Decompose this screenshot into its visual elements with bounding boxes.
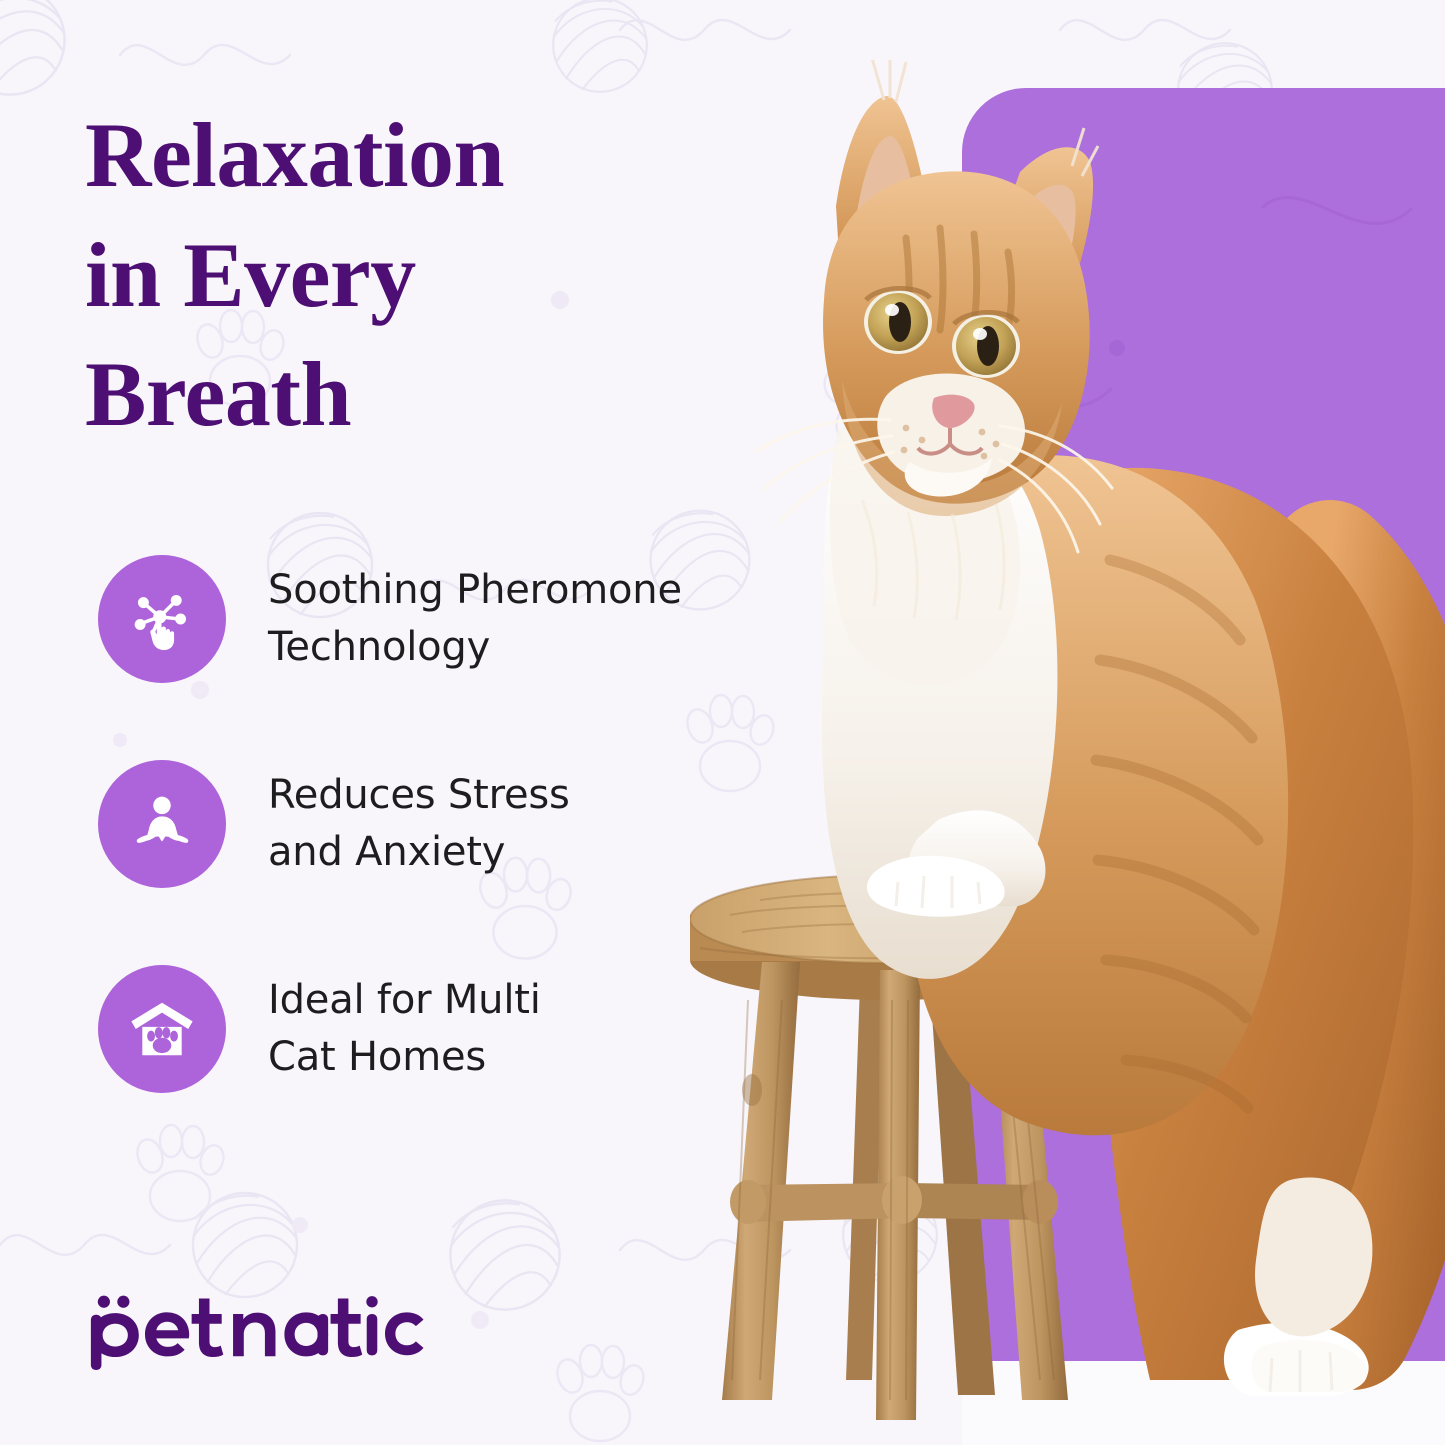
feature-line-2: and Anxiety [268,824,570,881]
feature-line-1: Ideal for Multi [268,972,541,1029]
feature-line-1: Reduces Stress [268,767,570,824]
feature-text: Ideal for Multi Cat Homes [268,972,541,1086]
headline-line-1: Relaxation [85,96,725,216]
floor-strip [962,1361,1445,1445]
page-title: Relaxation in Every Breath [85,96,725,455]
brand-logo [86,1292,427,1370]
feature-item-multi-cat-homes: Ideal for Multi Cat Homes [98,965,798,1093]
headline-line-3: Breath [85,335,725,455]
pheromone-molecule-touch-icon [98,555,226,683]
feature-line-2: Technology [268,619,682,676]
feature-text: Soothing Pheromone Technology [268,562,682,676]
feature-item-reduces-stress: Reduces Stress and Anxiety [98,760,798,888]
meditation-lotus-icon [98,760,226,888]
headline-line-2: in Every [85,216,725,336]
feature-line-2: Cat Homes [268,1029,541,1086]
marketing-graphic-canvas: Relaxation in Every Breath [0,0,1445,1445]
purple-backdrop-panel [962,88,1445,1361]
feature-item-pheromone-technology: Soothing Pheromone Technology [98,555,798,683]
feature-line-1: Soothing Pheromone [268,562,682,619]
feature-list: Soothing Pheromone Technology Reduces St… [98,555,798,1093]
panel-pattern [962,88,1445,1361]
pet-house-paw-icon [98,965,226,1093]
feature-text: Reduces Stress and Anxiety [268,767,570,881]
